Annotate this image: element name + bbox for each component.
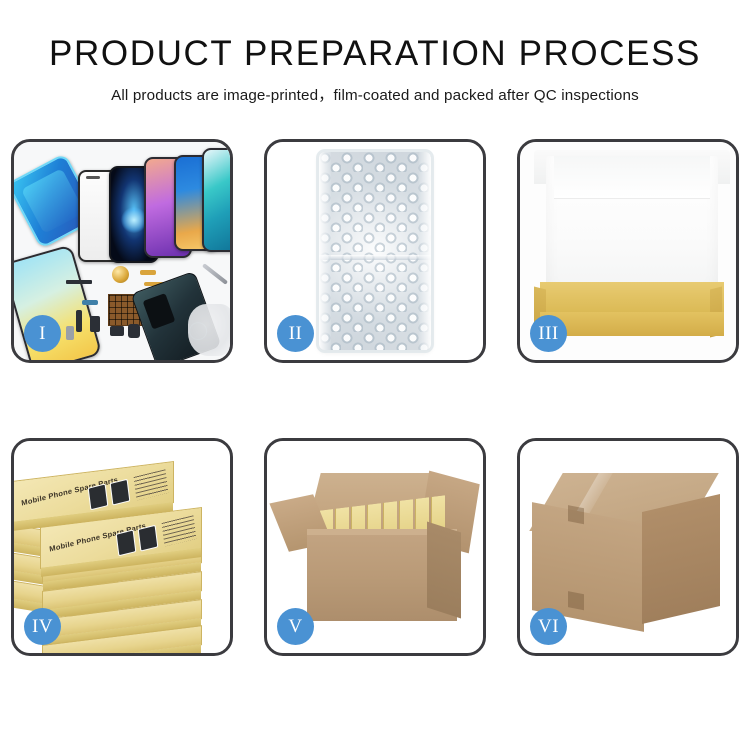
- labelled-box-1: Mobile Phone Spare Parts: [14, 461, 174, 523]
- box-thumbnail: [88, 483, 109, 510]
- header: PRODUCT PREPARATION PROCESS All products…: [0, 0, 750, 105]
- carton-side: [427, 521, 461, 618]
- process-step-panel-6: VI: [517, 438, 739, 656]
- process-step-panel-2: II: [264, 139, 486, 363]
- earpiece-mesh-part: [66, 280, 92, 284]
- coil-part: [112, 266, 129, 283]
- kraft-box-front-wall: [540, 312, 724, 336]
- flex-cable-part: [140, 270, 156, 275]
- box-thumbnail: [116, 529, 137, 556]
- step-badge-2: II: [277, 315, 314, 352]
- phone-display-teal: [202, 148, 230, 252]
- carton-side-face: [642, 494, 720, 624]
- bubble-wrap-edge: [419, 152, 431, 350]
- camera-part: [110, 326, 124, 336]
- tape-patch: [568, 591, 584, 610]
- bubble-wrap-edge: [319, 152, 331, 350]
- step-badge-5: V: [277, 608, 314, 645]
- step-badge-6: VI: [530, 608, 567, 645]
- box-thumbnail: [110, 479, 131, 506]
- process-step-panel-5: V: [264, 438, 486, 656]
- process-step-panel-3: III: [517, 139, 739, 363]
- box-spec-lines: [134, 469, 169, 500]
- process-step-panel-1: I: [11, 139, 233, 363]
- tape-patch: [568, 505, 584, 524]
- hand-silhouette: [188, 304, 230, 356]
- page-title: PRODUCT PREPARATION PROCESS: [0, 0, 750, 74]
- speaker-part: [128, 324, 140, 338]
- bubble-texture: [319, 152, 431, 350]
- step-badge-3: III: [530, 315, 567, 352]
- page-subtitle: All products are image-printed，film-coat…: [0, 74, 750, 105]
- process-step-grid: I II III: [11, 139, 739, 679]
- bubble-wrap-seam: [319, 255, 431, 260]
- button-flex-part: [76, 310, 82, 332]
- connector-part: [82, 300, 98, 305]
- box-spec-lines: [162, 515, 197, 546]
- box-thumbnail: [138, 525, 159, 552]
- sim-tray-part: [66, 326, 74, 340]
- step-badge-4: IV: [24, 608, 61, 645]
- step-badge-1: I: [24, 315, 61, 352]
- process-step-panel-4: Mobile Phone Spare Parts Mobile Phone Sp…: [11, 438, 233, 656]
- small-part: [90, 316, 100, 332]
- bubble-wrapped-product: [319, 152, 431, 350]
